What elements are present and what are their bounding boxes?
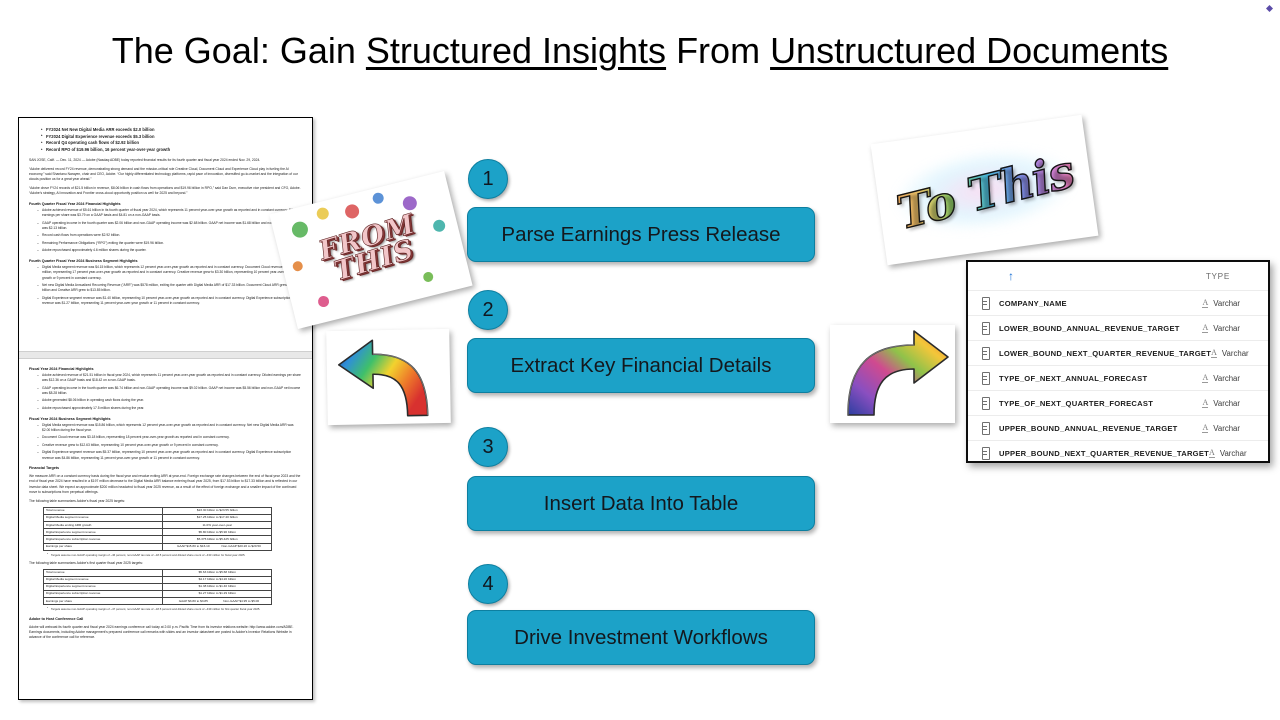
conference-call-body: Adobe will webcast its fourth quarter an…	[29, 625, 302, 641]
table-cell-label: Digital Experience segment revenue	[44, 584, 163, 591]
headline-bullet: FY2024 Digital Experience revenue exceed…	[41, 134, 302, 141]
column-type-label: Varchar	[1220, 449, 1247, 458]
table-row: Digital Experience segment revenue $5.80…	[44, 529, 272, 536]
document-quote-1: “Adobe delivered record FY24 revenue, de…	[29, 167, 302, 183]
table-row: Earnings per share GAAP $3.80 to $3.85No…	[44, 598, 272, 605]
page-title: The Goal: Gain Structured Insights From …	[0, 30, 1280, 72]
document-section-bullets: Digital Media segment revenue was $4.15 …	[37, 265, 302, 306]
column-name: UPPER_BOUND_ANNUAL_REVENUE_TARGET	[999, 424, 1178, 433]
press-release-document[interactable]: FY2024 Net New Digital Media ARR exceeds…	[18, 117, 313, 700]
column-name: COMPANY_NAME	[999, 299, 1067, 308]
table-row[interactable]: COMPANY_NAME A Varchar	[968, 290, 1268, 315]
table-schema-panel[interactable]: ↑ TYPE COMPANY_NAME A Varchar LOWER_BOUN…	[966, 260, 1270, 463]
column-type-label: Varchar	[1213, 399, 1240, 408]
document-bullet: Adobe achieved revenue of $21.51 billion…	[37, 373, 302, 384]
document-bullet: Remaining Performance Obligations (“RPO”…	[37, 241, 302, 246]
step-box-extract-key-financial-details[interactable]: Extract Key Financial Details	[467, 338, 815, 393]
document-bullet: GAAP operating income in the fourth quar…	[37, 221, 302, 232]
step-circle-1[interactable]: 1	[468, 159, 508, 199]
table-cell-label: Digital Media segment revenue	[44, 577, 163, 584]
document-bullet: Digital Media segment revenue was $15.86…	[37, 423, 302, 434]
column-type-label: Varchar	[1213, 324, 1240, 333]
document-page-break	[19, 351, 312, 359]
step-circle-4[interactable]: 4	[468, 564, 508, 604]
headline-bullet: Record Q4 operating cash flows of $2.92 …	[41, 140, 302, 147]
table-cell-value: $17.25 billion to $17.40 billion	[163, 515, 272, 522]
table-row: Total revenue $5.63 billion to $5.68 bil…	[44, 570, 272, 577]
schema-table-header: ↑ TYPE	[968, 262, 1268, 290]
document-bullet: Document Cloud revenue was $3.18 billion…	[37, 435, 302, 440]
table-cell-value: GAAP $15.80 to $16.10Non-GAAP $20.20 to …	[163, 543, 272, 550]
step-number: 1	[482, 168, 493, 191]
document-content-page-2: Fiscal Year 2024 Financial Highlights Ad…	[19, 361, 312, 699]
table-cell-label: Total revenue	[44, 570, 163, 577]
document-bullet: Adobe repurchased approximately 4.6 mill…	[37, 248, 302, 253]
document-bullet: Digital Experience segment revenue was $…	[37, 450, 302, 461]
step-box-drive-investment-workflows[interactable]: Drive Investment Workflows	[467, 610, 815, 665]
table-row: Digital Experience subscription revenue …	[44, 591, 272, 598]
table-cell-value: $5.63 billion to $5.68 billion	[163, 570, 272, 577]
column-icon	[980, 422, 991, 434]
document-bullet: Digital Experience segment revenue was $…	[37, 296, 302, 307]
table-row: Total revenue $23.30 billion to $23.55 b…	[44, 508, 272, 515]
column-icon	[980, 447, 991, 459]
table-row: Digital Media segment revenue $4.17 bill…	[44, 577, 272, 584]
document-bullet: Net new Digital Media Annualized Recurri…	[37, 283, 302, 294]
column-type: A Varchar	[1202, 324, 1240, 333]
text-type-icon: A	[1211, 349, 1217, 358]
document-headline-bullets: FY2024 Net New Digital Media ARR exceeds…	[41, 127, 302, 154]
text-type-icon: A	[1202, 324, 1208, 333]
column-type: A Varchar	[1202, 299, 1240, 308]
table-cell-label: Digital Experience subscription revenue	[44, 591, 163, 598]
table-cell-value: $5.80 billion to $5.90 billion	[163, 529, 272, 536]
table-row[interactable]: TYPE_OF_NEXT_ANNUAL_FORECAST A Varchar	[968, 365, 1268, 390]
text-type-icon: A	[1202, 299, 1208, 308]
table-row: Digital Media segment revenue $17.25 bil…	[44, 515, 272, 522]
column-type: A Varchar	[1202, 399, 1240, 408]
table-cell-non-gaap: Non-GAAP $20.20 to $20.50	[217, 545, 265, 549]
column-name: LOWER_BOUND_NEXT_QUARTER_REVENUE_TARGET	[999, 349, 1211, 358]
slide-canvas: The Goal: Gain Structured Insights From …	[0, 0, 1280, 720]
column-type-label: Varchar	[1222, 349, 1249, 358]
step-circle-3[interactable]: 3	[468, 427, 508, 467]
table-cell-non-gaap: Non-GAAP $4.95 to $5.00	[217, 600, 265, 604]
rainbow-arrow-left-card	[326, 329, 451, 425]
table-row[interactable]: UPPER_BOUND_NEXT_QUARTER_REVENUE_TARGET …	[968, 440, 1268, 463]
column-icon	[980, 372, 991, 384]
fy2025-targets-table: Total revenue $23.30 billion to $23.55 b…	[43, 507, 272, 550]
step-circle-2[interactable]: 2	[468, 290, 508, 330]
step-number: 3	[482, 436, 493, 459]
table-row: Digital Experience subscription revenue …	[44, 536, 272, 543]
table-cell-label: Digital Media segment revenue	[44, 515, 163, 522]
table-row[interactable]: UPPER_BOUND_ANNUAL_REVENUE_TARGET A Varc…	[968, 415, 1268, 440]
table-cell-value: 11.0% year-over-year	[163, 522, 272, 529]
document-bullet: Adobe achieved revenue of $5.61 billion …	[37, 208, 302, 219]
gradient-arrow-right-icon	[830, 325, 955, 423]
table-cell-value: GAAP $3.80 to $3.85Non-GAAP $4.95 to $5.…	[163, 598, 272, 605]
step-box-label: Drive Investment Workflows	[514, 626, 768, 650]
document-dateline: SAN JOSE, Calif. — Dec. 11, 2024 — Adobe…	[29, 158, 302, 163]
table-cell-gaap: GAAP $15.80 to $16.10	[169, 545, 217, 549]
table1-footnote: Targets assume non-GAAP operating margin…	[51, 553, 302, 557]
column-name: UPPER_BOUND_NEXT_QUARTER_REVENUE_TARGET	[999, 449, 1209, 458]
column-type: A Varchar	[1211, 349, 1249, 358]
document-section-heading: Fiscal Year 2024 Business Segment Highli…	[29, 417, 302, 421]
q1-fy2025-targets-table: Total revenue $5.63 billion to $5.68 bil…	[43, 569, 272, 605]
table-row[interactable]: TYPE_OF_NEXT_QUARTER_FORECAST A Varchar	[968, 390, 1268, 415]
sort-ascending-icon[interactable]: ↑	[1008, 270, 1017, 282]
title-underlined-2: Unstructured Documents	[770, 30, 1168, 71]
document-section-heading: Fourth Quarter Fiscal Year 2024 Financia…	[29, 202, 302, 206]
document-section-bullets: Adobe achieved revenue of $5.61 billion …	[37, 208, 302, 254]
table-cell-value: $1.27 billion to $1.29 billion	[163, 591, 272, 598]
table2-footnote: Targets assume non-GAAP operating margin…	[51, 607, 302, 611]
document-bullet: Creative revenue grew to $12.63 billion,…	[37, 443, 302, 448]
column-name: TYPE_OF_NEXT_QUARTER_FORECAST	[999, 399, 1153, 408]
column-header-type: TYPE	[1206, 272, 1230, 281]
table-cell-value: $1.38 billion to $1.40 billion	[163, 584, 272, 591]
column-type: A Varchar	[1202, 424, 1240, 433]
column-type-label: Varchar	[1213, 299, 1240, 308]
column-type-label: Varchar	[1213, 374, 1240, 383]
table-cell-label: Digital Experience segment revenue	[44, 529, 163, 536]
column-icon	[980, 397, 991, 409]
column-type: A Varchar	[1202, 374, 1240, 383]
document-page: FY2024 Net New Digital Media ARR exceeds…	[18, 117, 313, 700]
gradient-arrow-right-card	[830, 325, 955, 423]
table-cell-label: Total revenue	[44, 508, 163, 515]
column-name: LOWER_BOUND_ANNUAL_REVENUE_TARGET	[999, 324, 1180, 333]
financial-targets-heading: Financial Targets	[29, 466, 302, 470]
table-row[interactable]: LOWER_BOUND_NEXT_QUARTER_REVENUE_TARGET …	[968, 340, 1268, 365]
table-cell-label: Digital Experience subscription revenue	[44, 536, 163, 543]
title-part-1: The Goal: Gain	[112, 30, 366, 71]
from-this-wordart: FROM THIS	[317, 212, 426, 287]
financial-targets-intro: We measure ARR on a constant currency ba…	[29, 474, 302, 495]
document-section-heading: Fourth Quarter Fiscal Year 2024 Business…	[29, 259, 302, 263]
conference-call-heading: Adobe to Host Conference Call	[29, 617, 302, 621]
document-bullet: Record cash flows from operations were $…	[37, 233, 302, 238]
document-bullet: GAAP operating income in the fourth quar…	[37, 386, 302, 397]
document-bullet: Adobe generated $8.06 billion in operati…	[37, 398, 302, 403]
text-type-icon: A	[1202, 374, 1208, 383]
table2-caption: The following table summarizes Adobe’s f…	[29, 561, 302, 566]
column-type-label: Varchar	[1213, 424, 1240, 433]
step-box-insert-data-into-table[interactable]: Insert Data Into Table	[467, 476, 815, 531]
purple-diamond-icon	[1266, 5, 1273, 12]
headline-bullet: FY2024 Net New Digital Media ARR exceeds…	[41, 127, 302, 134]
text-type-icon: A	[1202, 424, 1208, 433]
table-cell-value: $5.375 billion to $5.425 billion	[163, 536, 272, 543]
table-row: Digital Experience segment revenue $1.38…	[44, 584, 272, 591]
document-bullet: Adobe repurchased approximately 17.5 mil…	[37, 406, 302, 411]
title-part-2: From	[666, 30, 770, 71]
table-cell-label: Earnings per share	[44, 543, 163, 550]
table-cell-label: Earnings per share	[44, 598, 163, 605]
document-quote-2: “Adobe drove FY24 records of $21.5 billi…	[29, 186, 302, 196]
column-name: TYPE_OF_NEXT_ANNUAL_FORECAST	[999, 374, 1147, 383]
rainbow-arrow-left-icon	[326, 329, 451, 425]
document-section-heading: Fiscal Year 2024 Financial Highlights	[29, 367, 302, 371]
step-number: 4	[482, 573, 493, 596]
table-cell-value: $23.30 billion to $23.55 billion	[163, 508, 272, 515]
text-type-icon: A	[1209, 449, 1215, 458]
step-box-label: Parse Earnings Press Release	[501, 223, 780, 247]
column-icon	[980, 297, 991, 309]
to-this-wordart-card: To This	[871, 115, 1099, 265]
table-cell-label: Digital Media ending ARR growth	[44, 522, 163, 529]
column-icon	[980, 347, 991, 359]
column-type: A Varchar	[1209, 449, 1247, 458]
table-cell-gaap: GAAP $3.80 to $3.85	[169, 600, 217, 604]
document-bullet: Digital Media segment revenue was $4.15 …	[37, 265, 302, 281]
text-type-icon: A	[1202, 399, 1208, 408]
step-box-parse-earnings-press-release[interactable]: Parse Earnings Press Release	[467, 207, 815, 262]
step-box-label: Insert Data Into Table	[544, 492, 739, 516]
table-row[interactable]: LOWER_BOUND_ANNUAL_REVENUE_TARGET A Varc…	[968, 315, 1268, 340]
table-row: Digital Media ending ARR growth 11.0% ye…	[44, 522, 272, 529]
step-number: 2	[482, 299, 493, 322]
document-section-bullets: Digital Media segment revenue was $15.86…	[37, 423, 302, 461]
column-icon	[980, 322, 991, 334]
title-underlined-1: Structured Insights	[366, 30, 666, 71]
document-section-bullets: Adobe achieved revenue of $21.51 billion…	[37, 373, 302, 411]
table1-caption: The following table summarizes Adobe’s f…	[29, 499, 302, 504]
table-row: Earnings per share GAAP $15.80 to $16.10…	[44, 543, 272, 550]
headline-bullet: Record RPO of $19.96 billion, 16 percent…	[41, 147, 302, 154]
table-cell-value: $4.17 billion to $4.20 billion	[163, 577, 272, 584]
step-box-label: Extract Key Financial Details	[511, 354, 772, 378]
